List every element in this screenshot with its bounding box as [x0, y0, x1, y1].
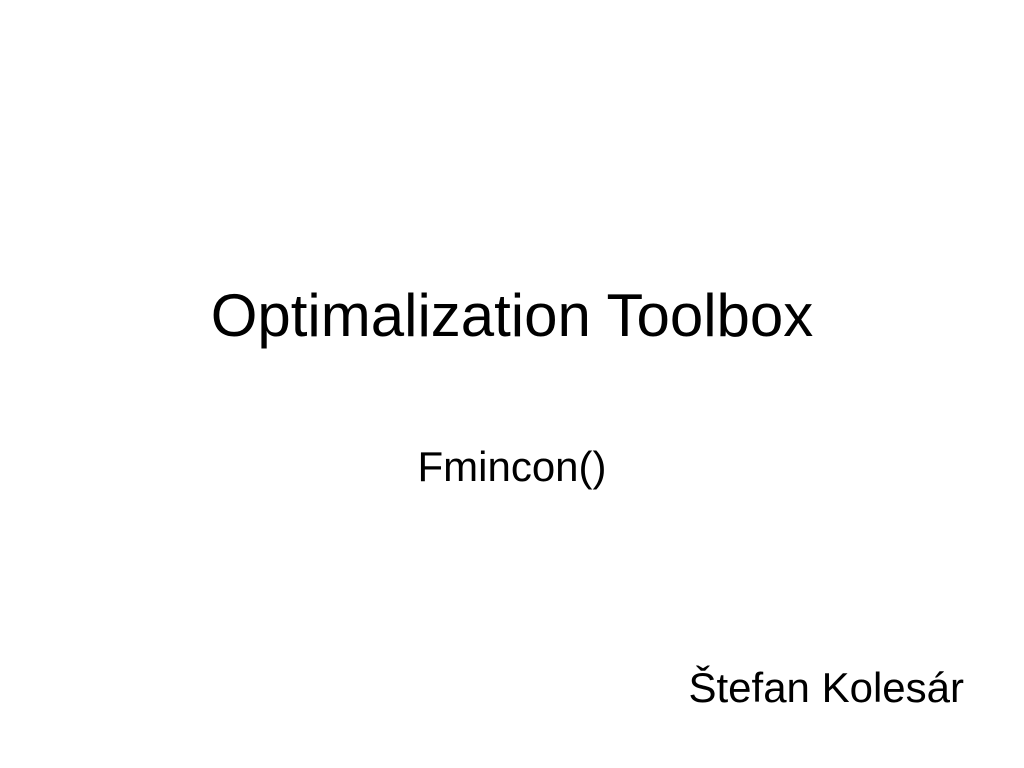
slide-title: Optimalization Toolbox [0, 286, 1024, 346]
slide-subtitle: Fmincon() [0, 446, 1024, 488]
slide-author: Štefan Kolesár [0, 667, 1024, 709]
presentation-slide: Optimalization Toolbox Fmincon() Štefan … [0, 0, 1024, 768]
